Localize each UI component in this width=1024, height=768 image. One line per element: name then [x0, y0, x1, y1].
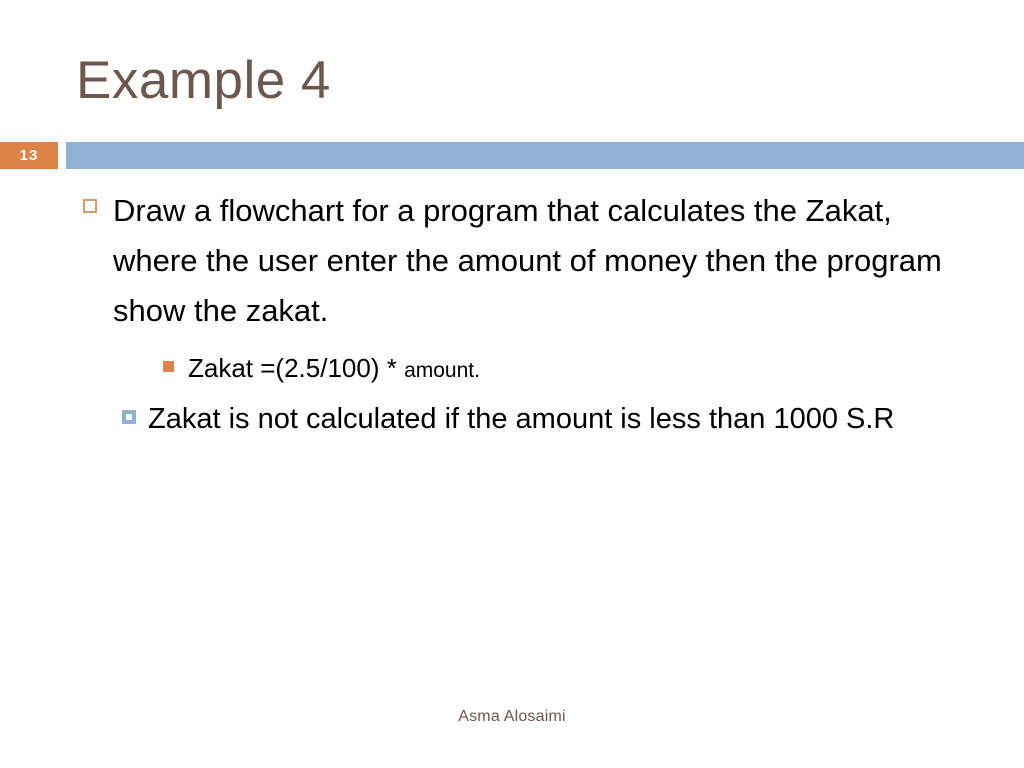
bullet-item-1-text: Draw a flowchart for a program that calc… [113, 193, 942, 328]
bullet-item-3-text: Zakat is not calculated if the amount is… [148, 403, 894, 435]
slide: Example 4 13 Draw a flowchart for a prog… [0, 0, 1024, 768]
filled-orange-square-icon [163, 361, 174, 372]
slide-number-label: 13 [0, 142, 58, 169]
header-rule-bar [66, 142, 1024, 169]
bullet-item-2-text: Zakat =(2.5/100) * [188, 353, 404, 383]
page-title: Example 4 [76, 50, 331, 112]
footer-author: Asma Alosaimi [0, 708, 1024, 726]
header-band: 13 [0, 142, 1024, 169]
hollow-blue-square-icon [122, 410, 136, 424]
bullet-item-2: Zakat =(2.5/100) * amount. [0, 344, 1024, 395]
slide-number-badge: 13 [0, 142, 58, 169]
hollow-orange-square-icon [83, 199, 97, 213]
spacer [0, 336, 1024, 344]
bullet-item-1: Draw a flowchart for a program that calc… [0, 186, 1024, 336]
bullet-item-2-text-small: amount. [404, 359, 480, 382]
slide-body: Draw a flowchart for a program that calc… [0, 186, 1024, 443]
bullet-item-3: Zakat is not calculated if the amount is… [0, 395, 1024, 443]
